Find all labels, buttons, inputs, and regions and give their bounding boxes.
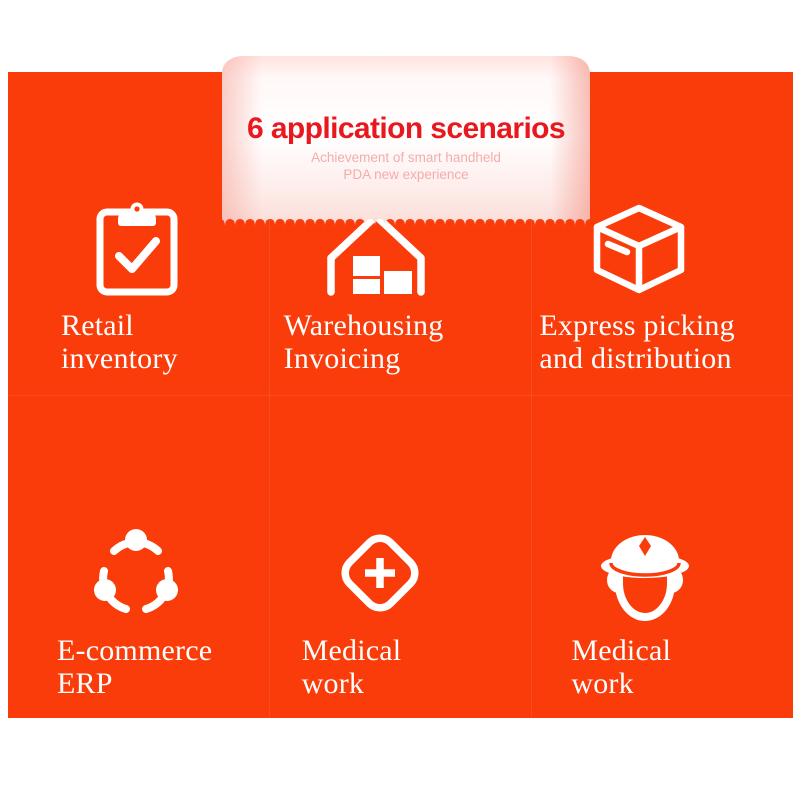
scenario-label: Medical work xyxy=(571,635,671,700)
scenario-label: E-commerce ERP xyxy=(57,635,212,700)
scenario-label: Express picking and distribution xyxy=(539,310,734,375)
medical-cross-diamond-icon xyxy=(330,523,430,623)
scenario-label: Medical work xyxy=(302,635,402,700)
clipboard-check-icon xyxy=(93,200,181,298)
scenario-cell-ecommerce-erp[interactable]: E-commerce ERP xyxy=(8,395,270,718)
banner-paper-shape xyxy=(222,56,590,236)
officer-cap-icon xyxy=(593,527,697,623)
scenario-cell-medical-work-cross[interactable]: Medical work xyxy=(270,395,532,718)
scenario-cell-medical-work-officer[interactable]: Medical work xyxy=(531,395,793,718)
parcel-box-icon xyxy=(591,202,687,298)
scenario-label: Retail inventory xyxy=(61,310,178,375)
banner-ribbon: 6 application scenarios Achievement of s… xyxy=(222,56,590,236)
share-network-icon xyxy=(88,527,184,623)
icon-container xyxy=(531,503,793,623)
scenario-label: Warehousing Invoicing xyxy=(284,310,444,375)
